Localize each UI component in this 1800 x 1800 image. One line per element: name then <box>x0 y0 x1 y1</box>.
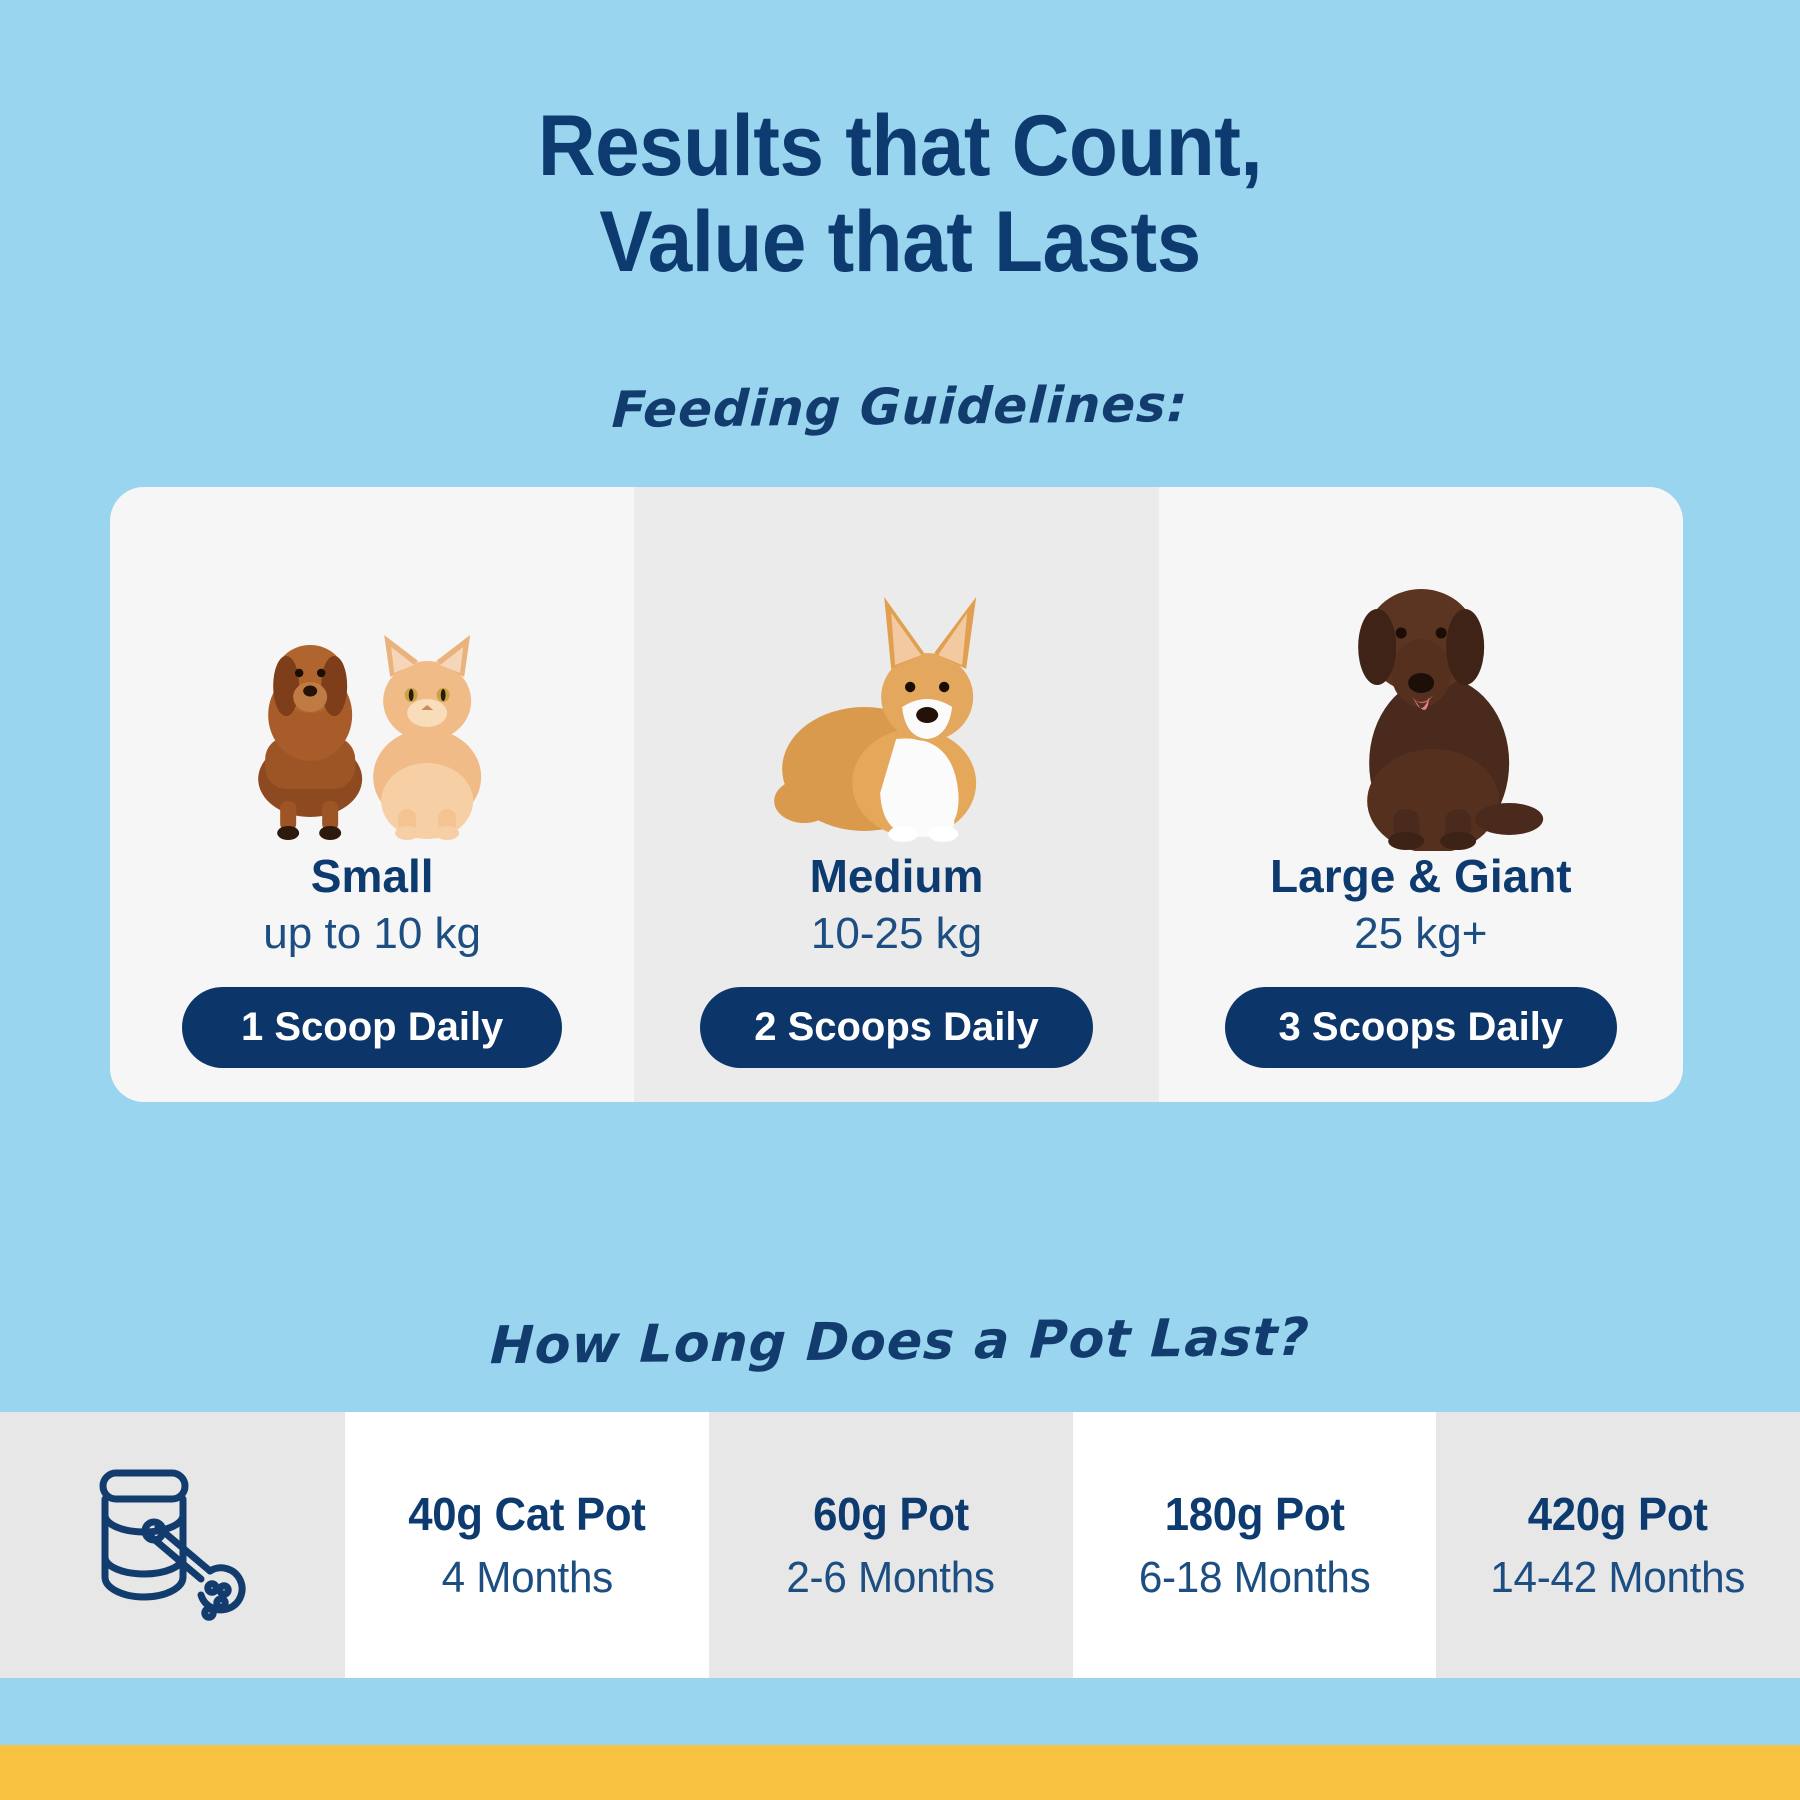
feeding-column-medium: Medium 10-25 kg 2 Scoops Daily <box>634 487 1158 1102</box>
pot-size-label: 180g Pot <box>1164 1487 1344 1541</box>
pot-duration-cell: 40g Cat Pot 4 Months <box>345 1412 709 1678</box>
pot-duration-cell: 180g Pot 6-18 Months <box>1073 1412 1437 1678</box>
scoop-badge[interactable]: 2 Scoops Daily <box>700 987 1093 1068</box>
pot-duration-band: 40g Cat Pot 4 Months 60g Pot 2-6 Months … <box>0 1412 1800 1678</box>
bottom-yellow-stripe <box>0 1745 1800 1800</box>
bottom-blue-stripe <box>0 1678 1800 1745</box>
pot-size-label: 420g Pot <box>1528 1487 1708 1541</box>
size-label: Small <box>311 851 434 902</box>
pot-icon-cell <box>0 1412 345 1678</box>
weight-range: 10-25 kg <box>811 906 982 961</box>
pot-duration-cell: 60g Pot 2-6 Months <box>709 1412 1073 1678</box>
pot-size-label: 60g Pot <box>813 1487 969 1541</box>
scoop-badge[interactable]: 1 Scoop Daily <box>182 987 562 1068</box>
pot-duration-value: 14-42 Months <box>1491 1553 1746 1603</box>
weight-range: up to 10 kg <box>263 906 481 961</box>
headline-line-2: Value that Lasts <box>63 194 1737 290</box>
weight-range: 25 kg+ <box>1354 906 1487 961</box>
pot-duration-value: 6-18 Months <box>1139 1553 1371 1603</box>
pot-duration-value: 2-6 Months <box>786 1553 994 1603</box>
feeding-column-large-giant: Large & Giant 25 kg+ 3 Scoops Daily <box>1159 487 1683 1102</box>
size-label: Medium <box>810 851 984 902</box>
pot-size-label: 40g Cat Pot <box>408 1487 645 1541</box>
headline-line-1: Results that Count, <box>63 98 1737 194</box>
scoop-badge[interactable]: 3 Scoops Daily <box>1225 987 1618 1068</box>
feeding-column-small: Small up to 10 kg 1 Scoop Daily <box>110 487 634 1102</box>
pot-duration-cell: 420g Pot 14-42 Months <box>1436 1412 1800 1678</box>
page-title: Results that Count, Value that Lasts <box>63 98 1737 291</box>
feeding-guidelines-heading: Feeding Guidelines: <box>0 369 1800 446</box>
chocolate-labrador-photo <box>1159 501 1683 851</box>
pot-duration-value: 4 Months <box>441 1553 612 1603</box>
feeding-guidelines-card: Small up to 10 kg 1 Scoop Daily <box>110 487 1683 1102</box>
size-label: Large & Giant <box>1270 851 1572 902</box>
dachshund-and-ginger-cat-photo <box>110 501 634 851</box>
pot-with-scoop-icon <box>78 1465 268 1625</box>
corgi-photo <box>634 501 1158 851</box>
pot-duration-heading: How Long Does a Pot Last? <box>0 1303 1800 1382</box>
